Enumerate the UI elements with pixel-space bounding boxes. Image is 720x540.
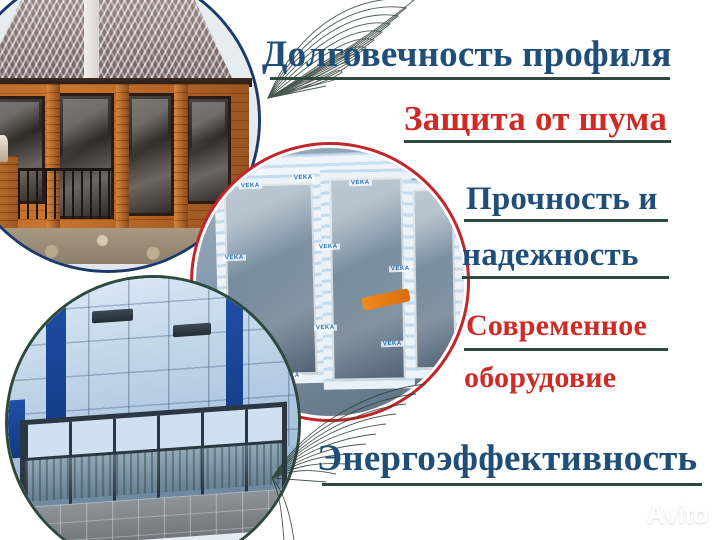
headline-strength: Прочность и bbox=[466, 183, 658, 216]
veka-brand-label: VEKA bbox=[314, 324, 337, 331]
photo-facade-image bbox=[8, 278, 298, 540]
house-roof bbox=[0, 0, 252, 84]
house-corner-post bbox=[174, 84, 188, 240]
veka-brand-label: VEKA bbox=[292, 174, 315, 181]
avito-dots-logo-icon bbox=[615, 502, 641, 528]
headline-energy-efficiency: Энергоэффективность bbox=[317, 440, 697, 477]
photo-circle-facade bbox=[8, 278, 298, 540]
headline-rule bbox=[464, 348, 668, 351]
house-roof-ridge bbox=[84, 0, 99, 84]
headline-rule bbox=[464, 219, 668, 222]
veka-brand-label: VEKA bbox=[381, 341, 404, 348]
headline-noise-protection: Защита от шума bbox=[404, 101, 667, 136]
house-corner-post bbox=[116, 84, 130, 240]
house-window bbox=[126, 93, 174, 216]
headline-reliability: надежность bbox=[462, 239, 639, 272]
veka-brand-label: VEKA bbox=[223, 255, 246, 262]
avito-watermark-text: Avito bbox=[646, 499, 708, 530]
poster-canvas: VEKA VEKA VEKA VEKA VEKA VEKA VEKA VEKA … bbox=[0, 0, 720, 540]
headline-rule bbox=[404, 140, 671, 143]
headline-rule bbox=[322, 483, 702, 486]
house-pillar bbox=[0, 156, 18, 234]
veka-brand-label: VEKA bbox=[389, 266, 412, 273]
house-balcony-railing bbox=[18, 168, 114, 219]
veka-window-sash bbox=[320, 169, 415, 390]
headline-modern: Современное bbox=[466, 311, 647, 341]
headline-equipment: оборудовие bbox=[464, 363, 616, 393]
veka-brand-label: VEKA bbox=[239, 182, 262, 189]
veka-window-sash bbox=[403, 180, 464, 379]
veka-brand-label: VEKA bbox=[349, 180, 372, 187]
house-lamp bbox=[0, 135, 8, 162]
headline-durability: Долговечность профиля bbox=[262, 36, 672, 73]
line-fan-decor-top bbox=[238, 0, 438, 171]
headline-rule bbox=[270, 77, 670, 80]
avito-watermark: Avito bbox=[615, 499, 708, 530]
headline-rule bbox=[462, 276, 669, 279]
